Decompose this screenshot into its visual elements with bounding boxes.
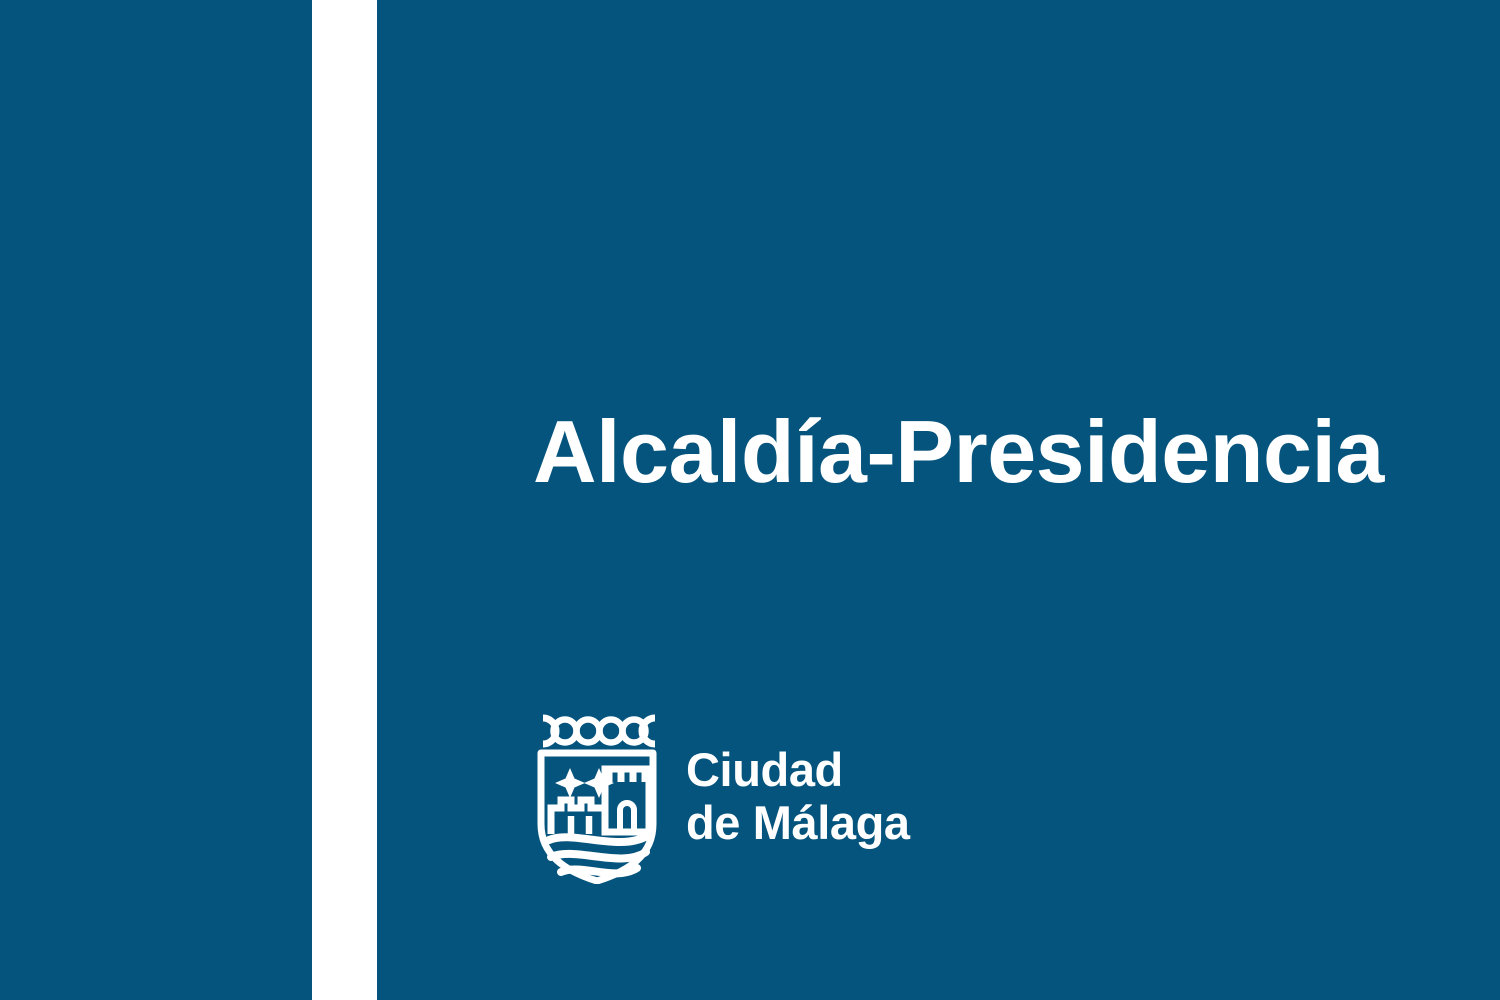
logo-wordmark: Ciudad de Málaga [686, 743, 910, 853]
logo-wordmark-line-2: de Málaga [686, 796, 910, 849]
page-title: Alcaldía-Presidencia [533, 408, 1384, 496]
logo-wordmark-line-1: Ciudad [686, 743, 910, 796]
coat-of-arms-icon [533, 712, 661, 884]
banner-content: Alcaldía-Presidencia [377, 0, 1500, 1000]
decorative-vertical-stripe [312, 0, 377, 1000]
logo-lockup: Ciudad de Málaga [533, 712, 910, 884]
banner-root: Alcaldía-Presidencia [0, 0, 1500, 1000]
